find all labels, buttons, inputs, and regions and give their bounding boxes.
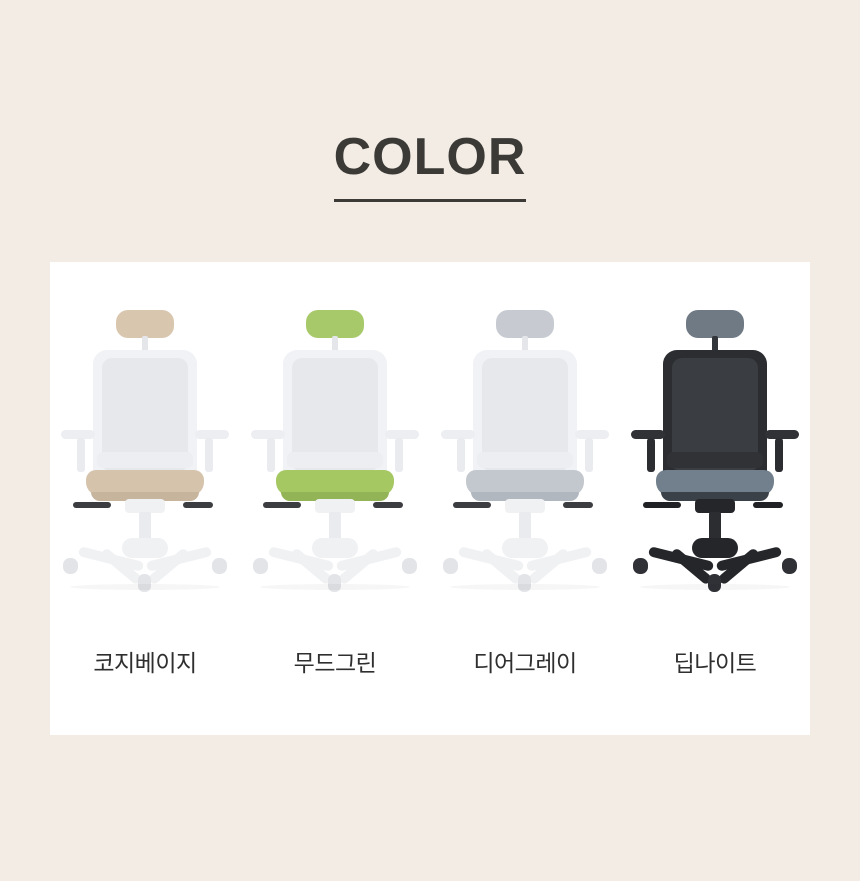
tilt-lever-left xyxy=(643,502,681,508)
tilt-lever-left xyxy=(73,502,111,508)
caster-wheel xyxy=(592,558,607,574)
tilt-mechanism xyxy=(505,499,545,513)
floor-shadow xyxy=(70,584,220,590)
armrest-right xyxy=(195,430,229,439)
base-hub xyxy=(692,538,738,558)
base-hub xyxy=(122,538,168,558)
tilt-mechanism xyxy=(695,499,735,513)
floor-shadow xyxy=(640,584,790,590)
height-lever-right xyxy=(753,502,783,508)
tilt-mechanism xyxy=(125,499,165,513)
caster-wheel xyxy=(63,558,78,574)
caster-wheel xyxy=(212,558,227,574)
caster-wheel xyxy=(443,558,458,574)
caster-wheel xyxy=(402,558,417,574)
lumbar-support xyxy=(667,452,763,468)
armrest-post-left xyxy=(77,438,85,472)
tilt-lever-left xyxy=(263,502,301,508)
color-swatch-panel: 코지베이지 xyxy=(50,262,810,735)
color-section-page: COLOR xyxy=(0,0,860,881)
armrest-post-right xyxy=(585,438,593,472)
chair-illustration-deer-grey xyxy=(435,302,615,602)
base-hub xyxy=(502,538,548,558)
tilt-mechanism xyxy=(315,499,355,513)
chair-color-label: 디어그레이 xyxy=(473,644,576,678)
headrest xyxy=(116,310,174,338)
base-hub xyxy=(312,538,358,558)
caster-wheel xyxy=(253,558,268,574)
chair-variant-item[interactable]: 딥나이트 xyxy=(620,302,810,678)
chair-illustration-cozy-beige xyxy=(55,302,235,602)
chair-variant-item[interactable]: 무드그린 xyxy=(240,302,430,678)
lumbar-support xyxy=(477,452,573,468)
page-title-block: COLOR xyxy=(0,130,860,202)
lumbar-support xyxy=(97,452,193,468)
caster-wheel xyxy=(782,558,797,574)
armrest-right xyxy=(575,430,609,439)
chair-illustration-deep-night xyxy=(625,302,805,602)
chair-variant-item[interactable]: 디어그레이 xyxy=(430,302,620,678)
armrest-post-left xyxy=(647,438,655,472)
chair-color-label: 무드그린 xyxy=(294,644,377,678)
armrest-post-left xyxy=(267,438,275,472)
page-title: COLOR xyxy=(334,130,527,202)
armrest-right xyxy=(385,430,419,439)
caster-wheel xyxy=(633,558,648,574)
height-lever-right xyxy=(373,502,403,508)
floor-shadow xyxy=(260,584,410,590)
tilt-lever-left xyxy=(453,502,491,508)
headrest xyxy=(306,310,364,338)
chair-illustration-mood-green xyxy=(245,302,425,602)
height-lever-right xyxy=(563,502,593,508)
armrest-post-right xyxy=(205,438,213,472)
headrest xyxy=(496,310,554,338)
chair-color-label: 딥나이트 xyxy=(674,644,757,678)
chair-variant-item[interactable]: 코지베이지 xyxy=(50,302,240,678)
floor-shadow xyxy=(450,584,600,590)
lumbar-support xyxy=(287,452,383,468)
chair-color-label: 코지베이지 xyxy=(93,644,196,678)
height-lever-right xyxy=(183,502,213,508)
headrest xyxy=(686,310,744,338)
armrest-post-left xyxy=(457,438,465,472)
chair-variant-list: 코지베이지 xyxy=(50,302,810,678)
armrest-right xyxy=(765,430,799,439)
armrest-post-right xyxy=(775,438,783,472)
armrest-post-right xyxy=(395,438,403,472)
